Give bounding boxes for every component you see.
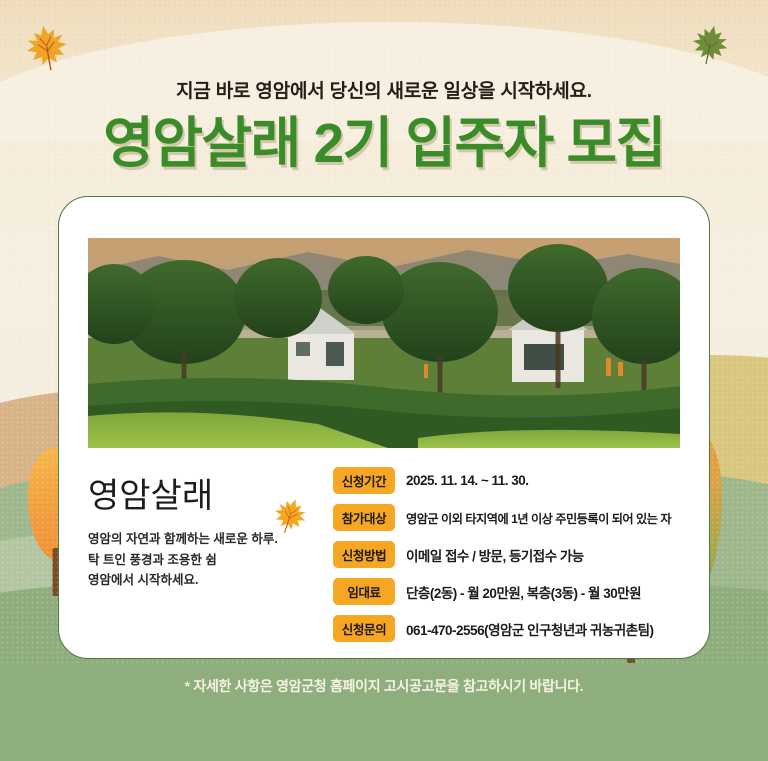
info-value: 단층(2동) - 월 20만원, 복층(3동) - 월 30만원 (406, 582, 641, 602)
header-subtitle: 지금 바로 영암에서 당신의 새로운 일상을 시작하세요. (0, 76, 768, 103)
info-badge: 신청기간 (333, 467, 395, 494)
village-photo (88, 238, 680, 448)
info-value: 이메일 접수 / 방문, 등기접수 가능 (406, 545, 584, 565)
info-list: 신청기간 2025. 11. 14. ~ 11. 30. 참가대상 영암군 이외… (333, 464, 683, 649)
info-badge: 신청문의 (333, 615, 395, 642)
info-row-how-to-apply: 신청방법 이메일 접수 / 방문, 등기접수 가능 (333, 538, 683, 571)
maple-leaf-orange-icon (20, 18, 74, 77)
info-value: 061-470-2556(영암군 인구청년과 귀농귀촌팀) (406, 619, 654, 639)
info-row-eligibility: 참가대상 영암군 이외 타지역에 1년 이상 주민등록이 되어 있는 자 (333, 501, 683, 534)
info-badge: 신청방법 (333, 541, 395, 568)
info-row-contact: 신청문의 061-470-2556(영암군 인구청년과 귀농귀촌팀) (333, 612, 683, 645)
page-title: 영암살래 2기 입주자 모집 (0, 116, 768, 171)
info-row-application-period: 신청기간 2025. 11. 14. ~ 11. 30. (333, 464, 683, 497)
poster-root: 지금 바로 영암에서 당신의 새로운 일상을 시작하세요. 영암살래 2기 입주… (0, 0, 768, 761)
info-badge: 참가대상 (333, 504, 395, 531)
info-row-rent: 임대료 단층(2동) - 월 20만원, 복층(3동) - 월 30만원 (333, 575, 683, 608)
footer-note: * 자세한 사항은 영암군청 홈페이지 고시공고문을 참고하시기 바랍니다. (0, 676, 768, 696)
info-value: 2025. 11. 14. ~ 11. 30. (406, 473, 529, 488)
brand-tagline: 영암의 자연과 함께하는 새로운 하루. 탁 트인 풍경과 조용한 쉼 영암에서… (88, 529, 318, 590)
info-badge: 임대료 (333, 578, 395, 605)
info-value: 영암군 이외 타지역에 1년 이상 주민등록이 되어 있는 자 (406, 509, 671, 527)
